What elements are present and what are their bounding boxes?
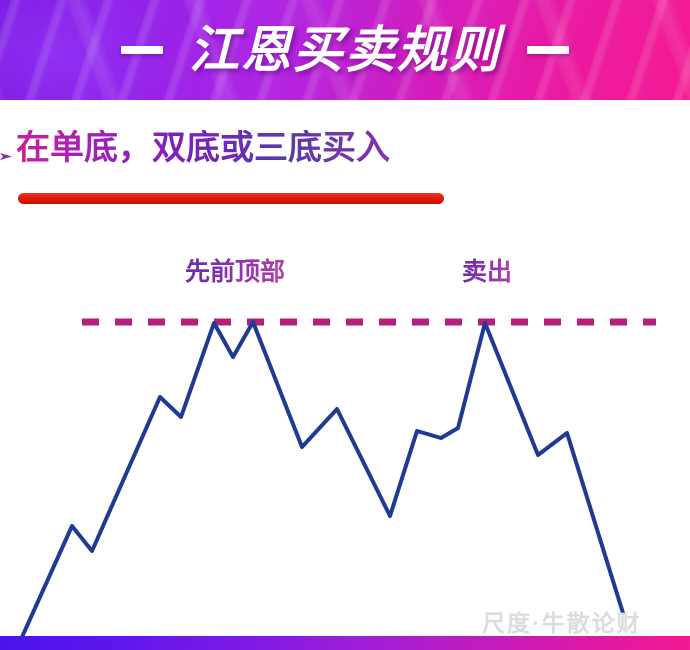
chart-label-sell: 卖出 (462, 252, 512, 288)
subtitle-underline (18, 193, 444, 204)
slide-canvas: 江恩买卖规则 在单底，双底或三底买入 先前顶部 卖出 尺度·牛散论财 (0, 0, 690, 650)
arrow-right-icon (0, 150, 14, 164)
price-chart (0, 300, 690, 638)
page-title: 江恩买卖规则 (189, 25, 501, 75)
header-banner: 江恩买卖规则 (0, 0, 690, 100)
footer-gradient-bar (0, 636, 690, 650)
banner-right-dash-icon (527, 46, 569, 54)
chart-svg (0, 300, 690, 638)
chart-label-previous-top: 先前顶部 (185, 252, 285, 288)
subtitle-text: 在单底，双底或三底买入 (16, 130, 390, 167)
price-polyline (22, 322, 623, 637)
banner-title-row: 江恩买卖规则 (0, 0, 690, 100)
banner-left-dash-icon (121, 46, 163, 54)
watermark-text: 尺度·牛散论财 (482, 604, 642, 638)
